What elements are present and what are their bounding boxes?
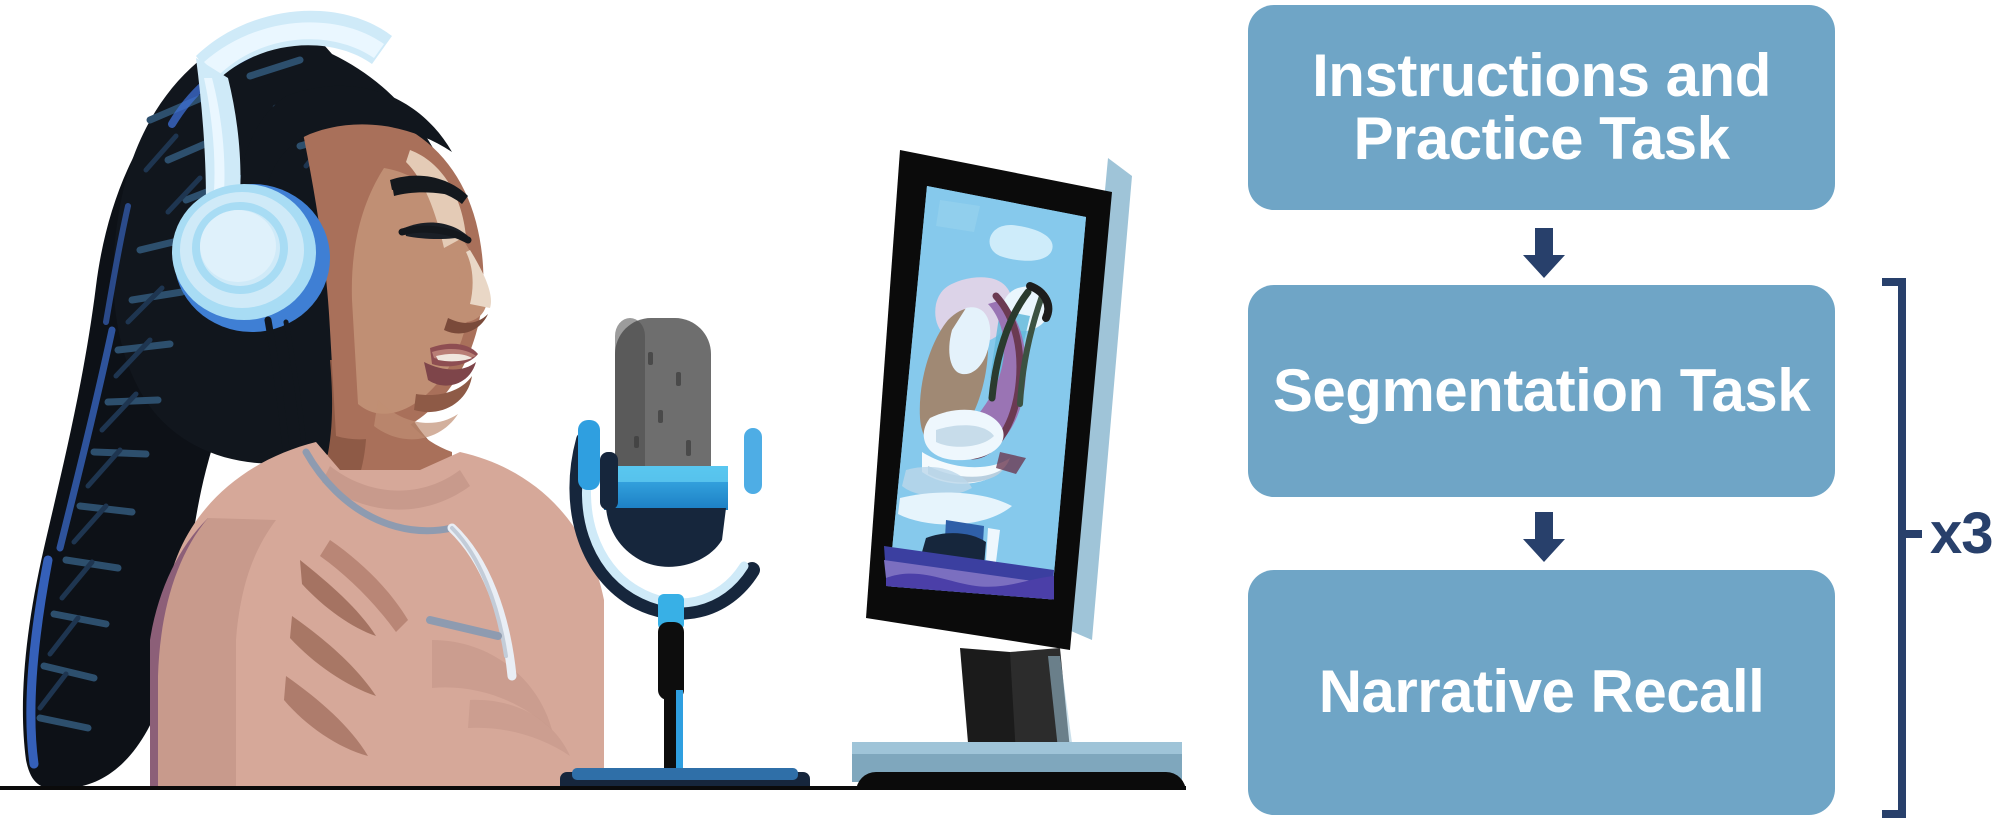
flow-arrow-down-icon-1 — [1522, 228, 1566, 278]
flow-step-segmentation-task[interactable]: Segmentation Task — [1248, 285, 1835, 497]
figure-root: Instructions and Practice Task Segmentat… — [0, 0, 2000, 823]
flow-step-label: Narrative Recall — [1319, 661, 1765, 723]
repeat-bracket — [1870, 278, 1930, 818]
flow-arrow-down-icon-2 — [1522, 512, 1566, 562]
illustration-artwork — [0, 0, 1230, 823]
flow-step-instructions-and-practice-task[interactable]: Instructions and Practice Task — [1248, 5, 1835, 210]
repeat-count-label: x3 — [1930, 500, 1993, 567]
illustration-panel — [0, 0, 1230, 823]
flow-step-label: Instructions and Practice Task — [1266, 45, 1817, 170]
flowchart-panel: Instructions and Practice Task Segmentat… — [1230, 0, 2000, 823]
flow-step-narrative-recall[interactable]: Narrative Recall — [1248, 570, 1835, 815]
flow-step-label: Segmentation Task — [1273, 360, 1810, 422]
